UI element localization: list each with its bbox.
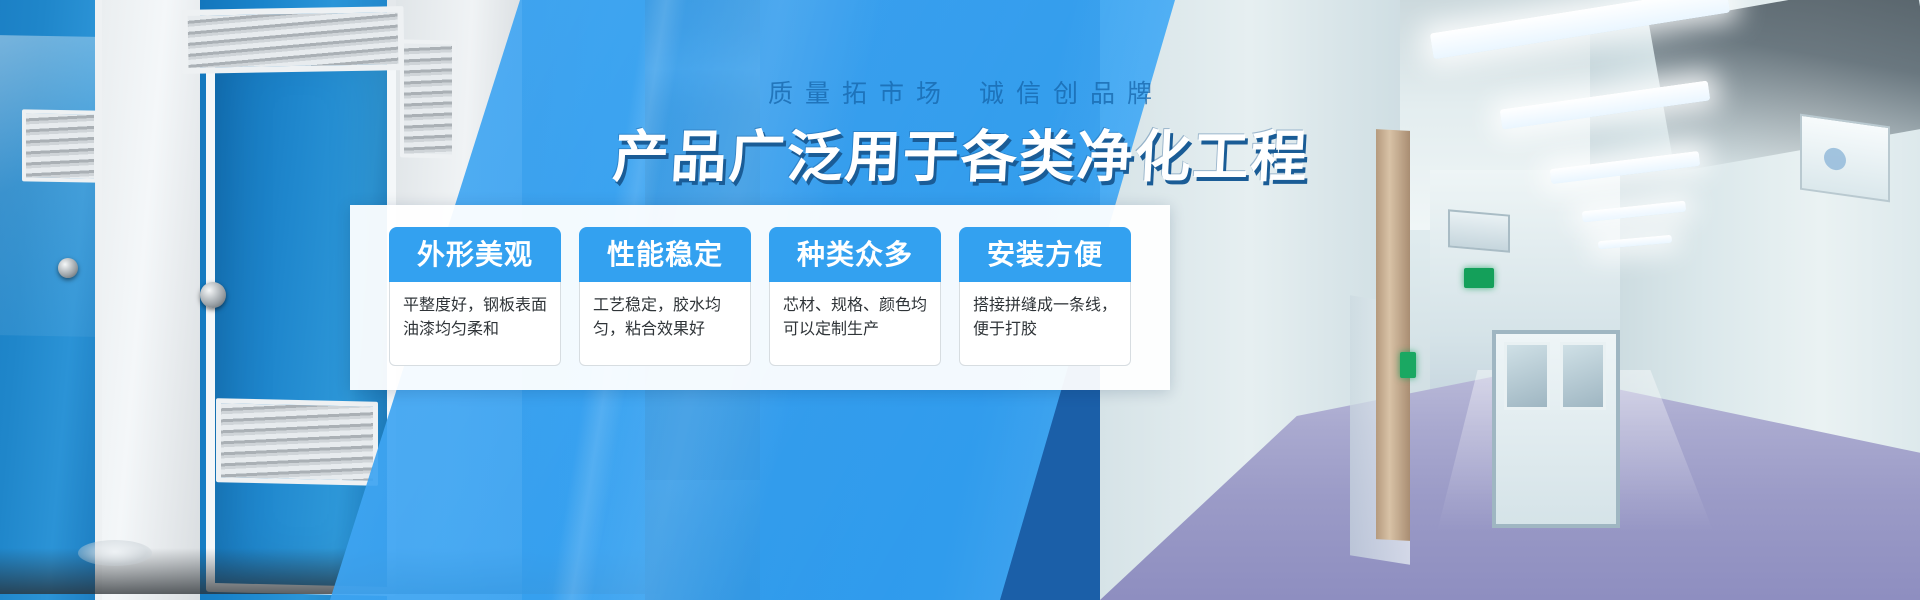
feature-card-list: 外形美观 平整度好，钢板表面油漆均匀柔和 性能稳定 工艺稳定，胶水均匀，粘合效果… [350,205,1170,390]
banner-headline: 产品广泛用于各类净化工程 [0,112,1920,193]
tagline-left-text: 质量拓市场 [768,80,953,108]
louver-vent-top [181,6,404,74]
feature-card-title: 外形美观 [389,227,561,282]
feature-card-title: 性能稳定 [579,227,751,282]
tagline-right-text: 诚信创品牌 [979,80,1164,108]
louver-vent-door [216,398,378,486]
floor-puddle [78,540,152,566]
feature-card[interactable]: 安装方便 搭接拼缝成一条线，便于打胶 [959,227,1131,366]
banner-tagline: 质量拓市场诚信创品牌 [0,74,1920,110]
wall-indicator [1400,352,1416,378]
feature-card-text: 工艺稳定，胶水均匀，粘合效果好 [579,282,751,366]
door-window-left [1504,342,1550,410]
feature-card-text: 芯材、规格、颜色均可以定制生产 [769,282,941,366]
door-handle [200,282,226,308]
promo-banner: 质量拓市场诚信创品牌 产品广泛用于各类净化工程 外形美观 平整度好，钢板表面油漆… [0,0,1920,600]
door-lock [58,258,78,278]
exit-sign [1464,268,1494,288]
feature-card-text: 搭接拼缝成一条线，便于打胶 [959,282,1131,366]
feature-panel: 外形美观 平整度好，钢板表面油漆均匀柔和 性能稳定 工艺稳定，胶水均匀，粘合效果… [350,205,1170,390]
feature-card[interactable]: 外形美观 平整度好，钢板表面油漆均匀柔和 [389,227,561,366]
feature-card[interactable]: 性能稳定 工艺稳定，胶水均匀，粘合效果好 [579,227,751,366]
wall-control-panel [1448,209,1510,252]
feature-card-title: 种类众多 [769,227,941,282]
feature-card-text: 平整度好，钢板表面油漆均匀柔和 [389,282,561,366]
feature-card[interactable]: 种类众多 芯材、规格、颜色均可以定制生产 [769,227,941,366]
feature-card-title: 安装方便 [959,227,1131,282]
door-window-right [1560,342,1606,410]
